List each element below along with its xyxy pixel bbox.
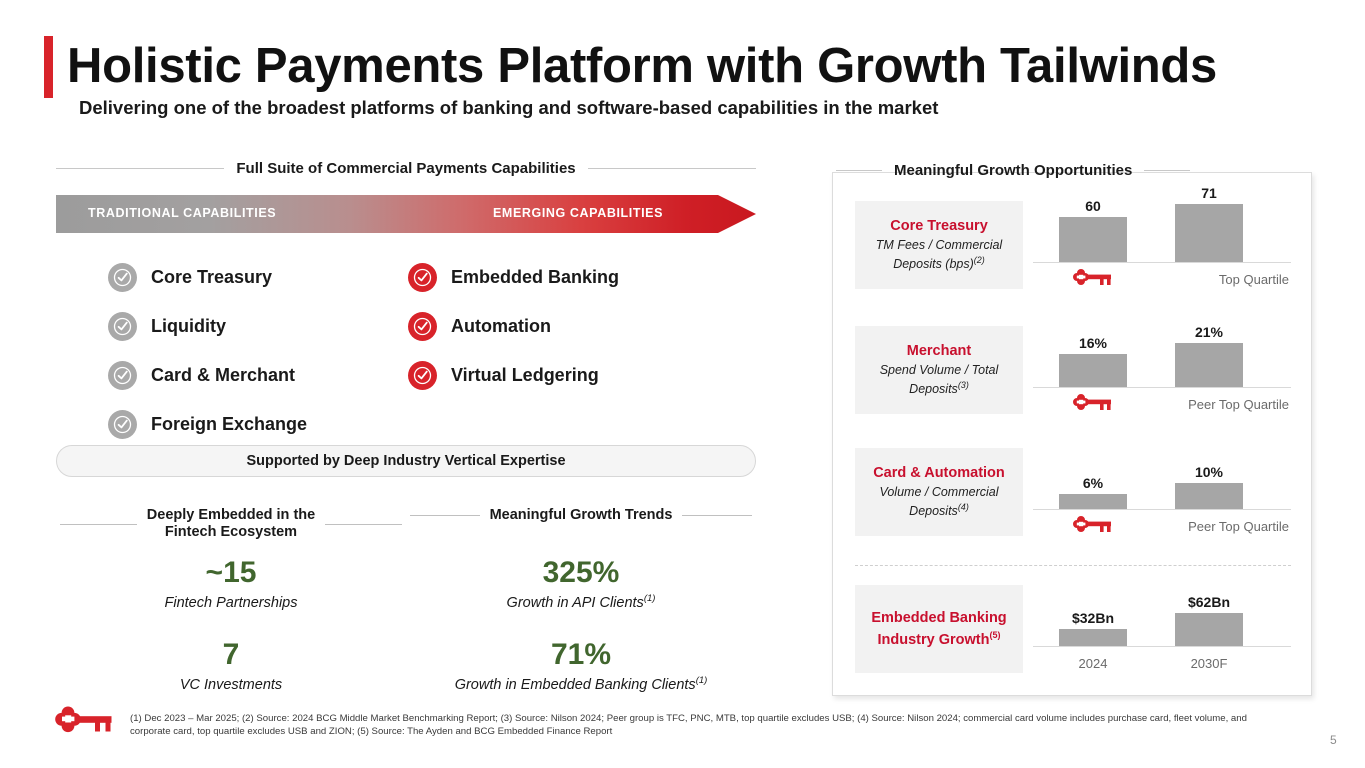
check-circle-icon — [108, 410, 137, 439]
stat-value: 7 — [56, 637, 406, 673]
row-subtitle: TM Fees / Commercial Deposits (bps)(2) — [861, 238, 1017, 272]
bar — [1059, 494, 1127, 509]
key-icon — [1070, 392, 1116, 412]
stat-caption-text: Fintech Partnerships — [165, 595, 298, 611]
stat-footnote-ref: (1) — [696, 675, 708, 686]
bar-value: 71 — [1175, 185, 1243, 201]
stat-caption-text: Growth in API Clients — [507, 595, 644, 611]
growth-opportunities-panel: Core Treasury TM Fees / Commercial Depos… — [832, 172, 1312, 696]
chart-baseline — [1033, 387, 1291, 388]
key-icon — [52, 704, 118, 736]
chart-baseline — [1033, 646, 1291, 647]
stat-caption: Fintech Partnerships — [56, 593, 406, 611]
check-circle-icon — [108, 312, 137, 341]
bar-value: 6% — [1059, 475, 1127, 491]
title-accent-bar — [44, 36, 53, 98]
stat-caption-text: VC Investments — [180, 677, 282, 693]
list-item[interactable]: Liquidity — [108, 302, 307, 351]
row-subtitle: Volume / Commercial Deposits(4) — [861, 485, 1017, 519]
row-subtitle: Spend Volume / Total Deposits(3) — [861, 363, 1017, 397]
band-label-emerging: EMERGING CAPABILITIES — [493, 206, 663, 220]
stat-value: 71% — [406, 637, 756, 673]
capability-spectrum-band: TRADITIONAL CAPABILITIES EMERGING CAPABI… — [56, 195, 756, 233]
list-item-label: Liquidity — [151, 316, 226, 337]
bar — [1059, 217, 1127, 262]
supported-by-label: Supported by Deep Industry Vertical Expe… — [246, 453, 565, 469]
chart-baseline — [1033, 262, 1291, 263]
row-title: Embedded Banking Industry Growth(5) — [861, 610, 1017, 649]
check-circle-icon — [408, 263, 437, 292]
page-title: Holistic Payments Platform with Growth T… — [67, 36, 1217, 96]
rule-left — [836, 170, 882, 171]
list-item[interactable]: Core Treasury — [108, 253, 307, 302]
list-item[interactable]: Embedded Banking — [408, 253, 619, 302]
row-label: Embedded Banking Industry Growth(5) — [855, 585, 1023, 673]
check-circle-icon — [108, 361, 137, 390]
stats-header-label: Meaningful Growth Trends — [490, 507, 673, 524]
stats-header-fintech: Deeply Embedded in the Fintech Ecosystem — [56, 507, 406, 541]
row-footnote-ref: (4) — [958, 502, 969, 512]
list-item-label: Card & Merchant — [151, 365, 295, 386]
key-icon — [1070, 267, 1116, 287]
stat-block: 7 VC Investments — [56, 637, 406, 693]
list-item-label: Virtual Ledgering — [451, 365, 599, 386]
band-label-traditional: TRADITIONAL CAPABILITIES — [88, 206, 276, 220]
list-item-label: Automation — [451, 316, 551, 337]
stats-grid: ~15 Fintech Partnerships 7 VC Investment… — [56, 555, 756, 719]
bar-value: $62Bn — [1175, 594, 1243, 610]
row-subtitle-text: Volume / Commercial Deposits — [879, 485, 998, 518]
stat-footnote-ref: (1) — [644, 593, 656, 604]
page-subtitle: Delivering one of the broadest platforms… — [79, 97, 938, 119]
footnote-text: (1) Dec 2023 – Mar 2025; (2) Source: 202… — [130, 712, 1270, 738]
stat-block: ~15 Fintech Partnerships — [56, 555, 406, 611]
slide-canvas: Holistic Payments Platform with Growth T… — [0, 0, 1365, 768]
rule-right — [588, 168, 756, 169]
stats-headers: Deeply Embedded in the Fintech Ecosystem… — [56, 507, 756, 541]
traditional-capabilities-column: Core Treasury Liquidity Card & Merchant — [108, 253, 307, 449]
stat-block: 71% Growth in Embedded Banking Clients(1… — [406, 637, 756, 693]
page-number: 5 — [1330, 733, 1337, 747]
check-circle-icon — [408, 361, 437, 390]
row-chart: 6% 10% Peer Top Quar — [1033, 448, 1291, 536]
row-label: Core Treasury TM Fees / Commercial Depos… — [855, 201, 1023, 289]
list-item-label: Foreign Exchange — [151, 414, 307, 435]
rule-left — [60, 524, 137, 525]
stats-column-fintech: ~15 Fintech Partnerships 7 VC Investment… — [56, 555, 406, 719]
row-footnote-ref: (3) — [958, 380, 969, 390]
growth-row-embedded-banking[interactable]: Embedded Banking Industry Growth(5) $32B… — [855, 585, 1291, 673]
bar-value: 60 — [1059, 198, 1127, 214]
bar-value: 16% — [1059, 335, 1127, 351]
panel-inner: Core Treasury TM Fees / Commercial Depos… — [833, 173, 1311, 695]
list-item[interactable]: Virtual Ledgering — [408, 351, 619, 400]
rule-right — [325, 524, 402, 525]
bar — [1175, 613, 1243, 646]
stats-header-growth: Meaningful Growth Trends — [406, 507, 756, 541]
row-divider — [855, 565, 1291, 566]
row-title: Card & Automation — [873, 465, 1005, 482]
row-chart: 16% 21% Peer Top Qua — [1033, 326, 1291, 414]
list-item-label: Core Treasury — [151, 267, 272, 288]
row-footnote-ref: (2) — [974, 255, 985, 265]
list-item[interactable]: Automation — [408, 302, 619, 351]
bar-axis-label: 2024 — [1059, 656, 1127, 671]
stat-caption: VC Investments — [56, 675, 406, 693]
key-icon — [1070, 514, 1116, 534]
list-item[interactable]: Card & Merchant — [108, 351, 307, 400]
rule-right — [1144, 170, 1190, 171]
emerging-capabilities-column: Embedded Banking Automation Virtual Ledg… — [408, 253, 619, 400]
row-label: Card & Automation Volume / Commercial De… — [855, 448, 1023, 536]
left-panel: Full Suite of Commercial Payments Capabi… — [56, 160, 756, 719]
stat-caption: Growth in Embedded Banking Clients(1) — [406, 675, 756, 693]
key-icon-slot — [1059, 266, 1127, 288]
bar — [1175, 483, 1243, 509]
bar — [1175, 204, 1243, 262]
row-label: Merchant Spend Volume / Total Deposits(3… — [855, 326, 1023, 414]
stat-value: ~15 — [56, 555, 406, 591]
chart-baseline — [1033, 509, 1291, 510]
bar — [1059, 354, 1127, 387]
rule-right — [682, 515, 752, 516]
list-item[interactable]: Foreign Exchange — [108, 400, 307, 449]
bar — [1175, 343, 1243, 387]
bar-axis-label: Top Quartile — [1129, 272, 1289, 287]
left-section-header: Full Suite of Commercial Payments Capabi… — [56, 160, 756, 177]
capabilities-lists: Core Treasury Liquidity Card & Merchant — [56, 253, 756, 441]
growth-row-merchant[interactable]: Merchant Spend Volume / Total Deposits(3… — [855, 326, 1291, 414]
rule-left — [56, 168, 224, 169]
bar-axis-label: 2030F — [1175, 656, 1243, 671]
row-chart: $32Bn $62Bn 2024 2030F — [1033, 585, 1291, 673]
stats-column-growth: 325% Growth in API Clients(1) 71% Growth… — [406, 555, 756, 719]
row-title-text: Embedded Banking Industry Growth — [871, 610, 1006, 648]
row-title: Core Treasury — [890, 218, 988, 235]
check-circle-icon — [408, 312, 437, 341]
stat-block: 325% Growth in API Clients(1) — [406, 555, 756, 611]
key-icon-slot — [1059, 391, 1127, 413]
growth-row-card-automation[interactable]: Card & Automation Volume / Commercial De… — [855, 448, 1291, 536]
stats-header-label: Deeply Embedded in the Fintech Ecosystem — [147, 507, 315, 541]
footer-key-legend-icon — [52, 704, 118, 741]
bar-value: 21% — [1175, 324, 1243, 340]
growth-row-core-treasury[interactable]: Core Treasury TM Fees / Commercial Depos… — [855, 201, 1291, 289]
check-circle-icon — [108, 263, 137, 292]
right-section-header-label: Meaningful Growth Opportunities — [894, 162, 1132, 179]
key-icon-slot — [1059, 513, 1127, 535]
stat-value: 325% — [406, 555, 756, 591]
right-section-header: Meaningful Growth Opportunities — [836, 162, 1308, 179]
rule-left — [410, 515, 480, 516]
list-item-label: Embedded Banking — [451, 267, 619, 288]
title-block: Holistic Payments Platform with Growth T… — [44, 36, 1217, 98]
stat-caption-text: Growth in Embedded Banking Clients — [455, 677, 696, 693]
row-footnote-ref: (5) — [989, 630, 1000, 640]
bar-axis-label: Peer Top Quartile — [1129, 397, 1289, 412]
supported-by-banner: Supported by Deep Industry Vertical Expe… — [56, 445, 756, 477]
bar-value: $32Bn — [1059, 610, 1127, 626]
bar-axis-label: Peer Top Quartile — [1129, 519, 1289, 534]
row-subtitle-text: Spend Volume / Total Deposits — [880, 363, 999, 396]
bar — [1059, 629, 1127, 646]
stat-caption: Growth in API Clients(1) — [406, 593, 756, 611]
row-title: Merchant — [907, 343, 971, 360]
bar-value: 10% — [1175, 464, 1243, 480]
left-section-header-label: Full Suite of Commercial Payments Capabi… — [236, 160, 575, 177]
row-chart: 60 71 Top Quartile — [1033, 201, 1291, 289]
